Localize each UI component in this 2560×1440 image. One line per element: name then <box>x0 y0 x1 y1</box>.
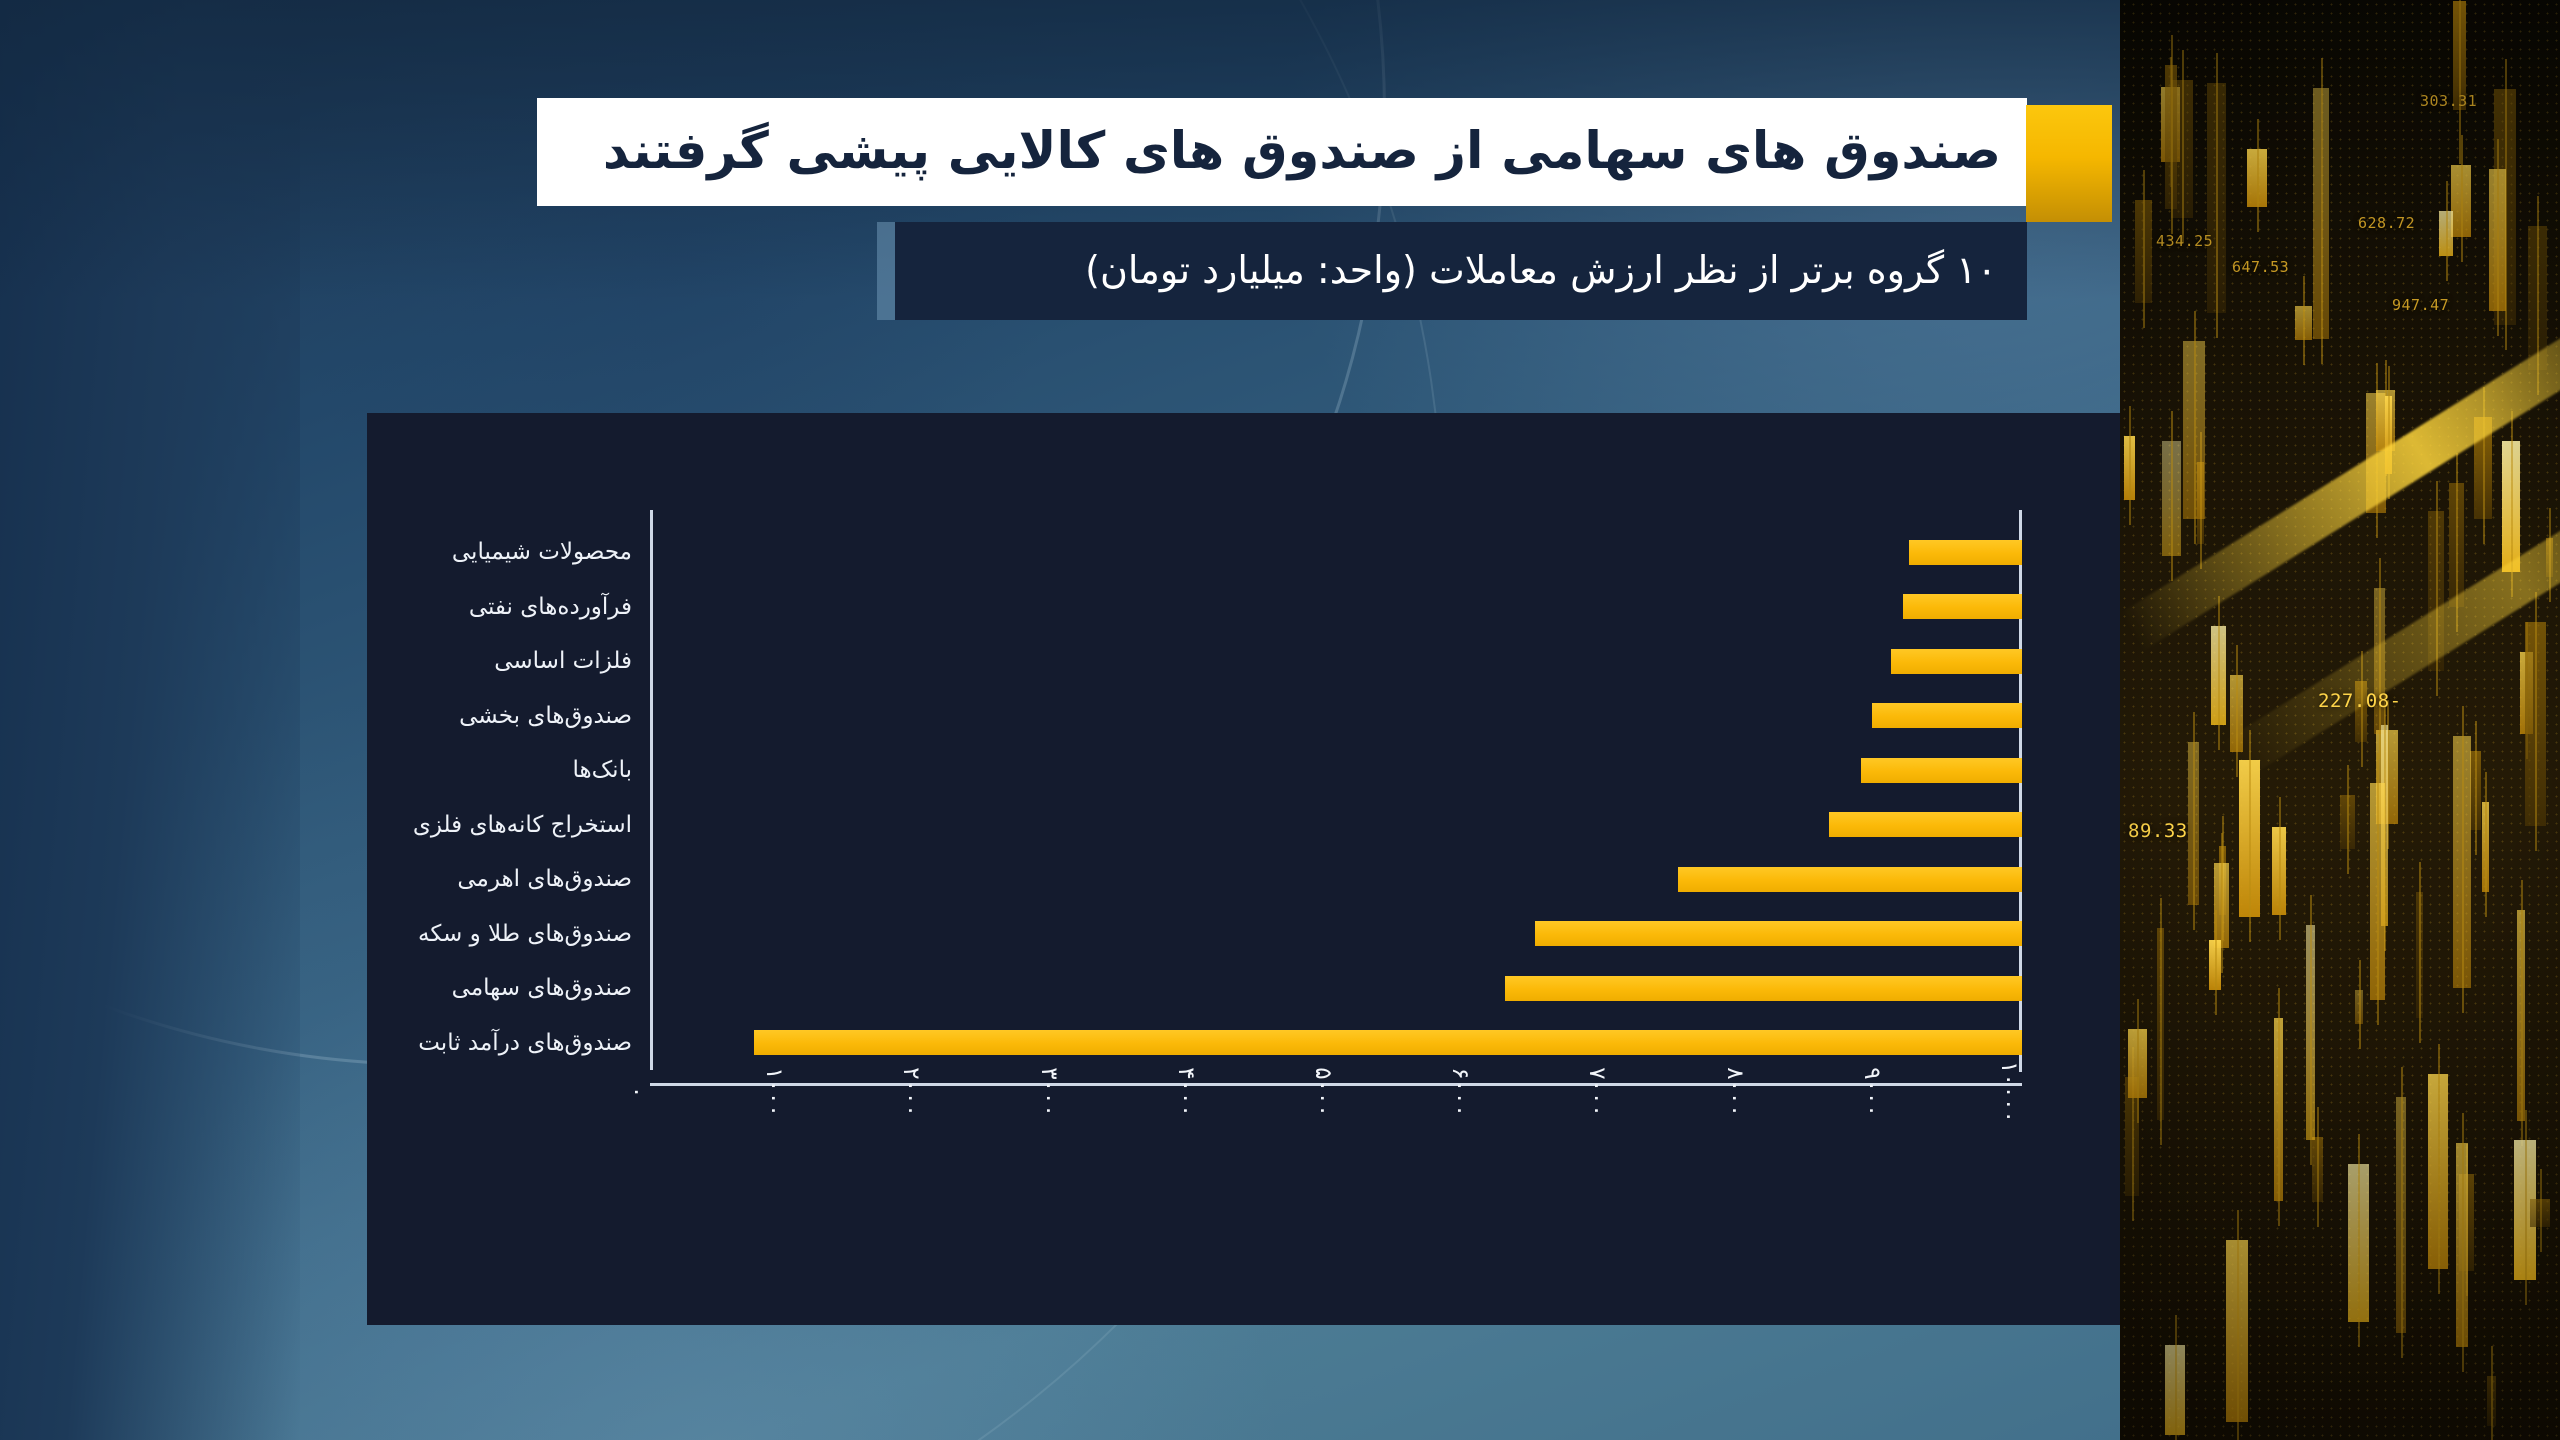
bar-row: صندوق‌های بخشی <box>650 689 2022 744</box>
bar-row: صندوق‌های سهامی <box>650 961 2022 1016</box>
x-tick-label: ۱۰۰۰ <box>761 1067 787 1116</box>
bar <box>1909 540 2022 565</box>
x-tick-label: ۲۰۰۰ <box>898 1067 924 1116</box>
x-tick-label: ۵۰۰۰ <box>1310 1067 1336 1116</box>
page-title: صندوق های سهامی از صندوق های کالایی پیشی… <box>603 125 2001 179</box>
category-label: صندوق‌های سهامی <box>452 975 632 1001</box>
bar-row: بانک‌ها <box>650 743 2022 798</box>
bar <box>1829 812 2022 837</box>
x-tick-label: ۷۰۰۰ <box>1584 1067 1610 1116</box>
page-subtitle: ۱۰ گروه برتر از نظر ارزش معاملات (واحد: … <box>1085 250 1997 292</box>
bar <box>1535 921 2022 946</box>
x-tick-label: ۱۰۰۰۰ <box>1996 1061 2022 1123</box>
category-label: فلزات اساسی <box>494 648 632 674</box>
x-tick-label: ۸۰۰۰ <box>1722 1067 1748 1116</box>
x-tick-label: ۳۰۰۰ <box>1036 1067 1062 1116</box>
category-label: صندوق‌های بخشی <box>459 703 632 729</box>
bar <box>1903 594 2022 619</box>
category-label: محصولات شیمیایی <box>452 539 632 565</box>
bar-row: محصولات شیمیایی <box>650 525 2022 580</box>
bar-row: فلزات اساسی <box>650 634 2022 689</box>
bar-row: استخراج کانه‌های فلزی <box>650 798 2022 853</box>
bar <box>1861 758 2022 783</box>
gold-accent-block <box>2026 105 2112 222</box>
bar-row: فرآورده‌های نفتی <box>650 580 2022 635</box>
bar <box>1505 976 2022 1001</box>
subtitle-band: ۱۰ گروه برتر از نظر ارزش معاملات (واحد: … <box>895 222 2027 320</box>
x-tick-label: ۰ <box>624 1086 650 1098</box>
x-axis-tick-labels: ۰۱۰۰۰۲۰۰۰۳۰۰۰۴۰۰۰۵۰۰۰۶۰۰۰۷۰۰۰۸۰۰۰۹۰۰۰۱۰۰… <box>650 1092 2022 1262</box>
infographic-stage: 303.31434.25628.72647.53947.47-227.0889.… <box>0 0 2560 1440</box>
x-axis-line <box>650 1083 2022 1086</box>
x-tick-label: ۴۰۰۰ <box>1173 1067 1199 1116</box>
bar-row: صندوق‌های طلا و سکه <box>650 907 2022 962</box>
plot-area: محصولات شیمیاییفرآورده‌های نفتیفلزات اسا… <box>650 525 2022 1070</box>
category-label: فرآورده‌های نفتی <box>469 594 632 620</box>
bar-rows: محصولات شیمیاییفرآورده‌های نفتیفلزات اسا… <box>650 525 2022 1070</box>
x-tick-label: ۶۰۰۰ <box>1447 1067 1473 1116</box>
bar-row: صندوق‌های درآمد ثابت <box>650 1016 2022 1071</box>
bar <box>754 1030 2022 1055</box>
subtitle-edge-accent <box>877 222 895 320</box>
chart-panel: محصولات شیمیاییفرآورده‌های نفتیفلزات اسا… <box>367 413 2120 1325</box>
bar <box>1872 703 2022 728</box>
headline-band: صندوق های سهامی از صندوق های کالایی پیشی… <box>537 98 2027 206</box>
photo-vignette <box>2120 0 2560 1440</box>
category-label: بانک‌ها <box>572 757 632 783</box>
category-label: صندوق‌های طلا و سکه <box>418 921 632 947</box>
category-label: استخراج کانه‌های فلزی <box>413 812 632 838</box>
bar <box>1891 649 2022 674</box>
bar-row: صندوق‌های اهرمی <box>650 852 2022 907</box>
category-label: صندوق‌های درآمد ثابت <box>418 1030 632 1056</box>
bar <box>1678 867 2022 892</box>
x-tick-label: ۹۰۰۰ <box>1859 1067 1885 1116</box>
category-label: صندوق‌های اهرمی <box>457 866 632 892</box>
stock-market-photo: 303.31434.25628.72647.53947.47-227.0889.… <box>2120 0 2560 1440</box>
